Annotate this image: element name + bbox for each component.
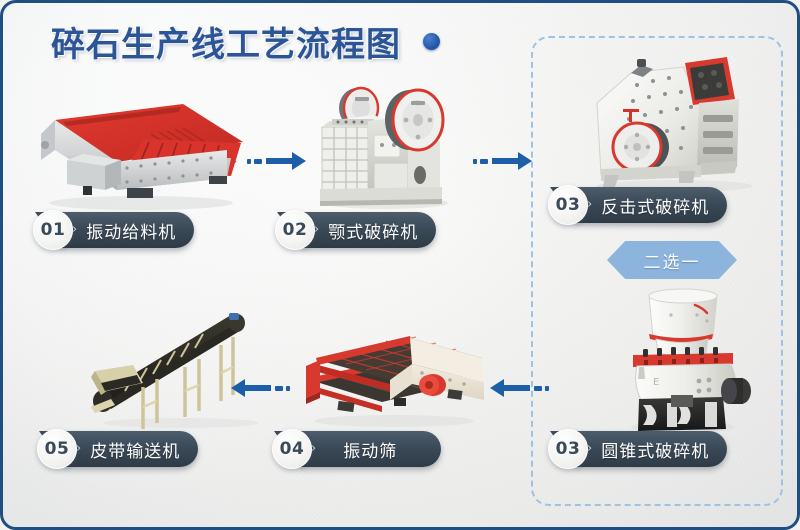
- step-label-text: 皮带输送机: [90, 437, 180, 462]
- step-number-badge: 04: [272, 429, 312, 469]
- arrow-shaft: [492, 158, 518, 164]
- machine-vibrating-feeder: [31, 98, 253, 217]
- arrow-head: [231, 379, 245, 397]
- step-label-text: 振动给料机: [86, 218, 176, 243]
- step-number-badge: 05: [37, 429, 77, 469]
- step-label-01[interactable]: 01 › 振动给料机: [33, 212, 194, 248]
- step-label-bubble: › 反击式破碎机: [575, 187, 727, 223]
- arrow-dash: [275, 386, 283, 391]
- step-label-03-impact[interactable]: 03 › 反击式破碎机: [548, 187, 727, 223]
- step-label-bubble: › 振动给料机: [60, 212, 194, 248]
- step-label-text: 反击式破碎机: [601, 193, 709, 218]
- jaw-crusher-icon: [308, 75, 463, 215]
- step-label-bubble: › 皮带输送机: [64, 431, 198, 467]
- step-number-badge: 03: [548, 185, 588, 225]
- arrow-head: [518, 152, 532, 170]
- step-label-04[interactable]: 04 › 振动筛: [272, 431, 441, 467]
- vibrating-screen-icon: [298, 318, 488, 430]
- arrow-screen-to-conveyor: [231, 379, 290, 397]
- choose-one-badge: 二选一: [607, 241, 737, 279]
- cone-crusher-icon: E: [611, 281, 761, 436]
- arrow-dot: [473, 159, 477, 164]
- step-number-badge: 03: [548, 429, 588, 469]
- machine-cone-crusher: E: [611, 281, 761, 440]
- machine-belt-conveyor: [81, 303, 276, 437]
- step-label-text: 颚式破碎机: [328, 218, 418, 243]
- machine-impact-crusher: [575, 51, 775, 200]
- impact-crusher-icon: [575, 51, 775, 196]
- arrow-feeder-to-jaw: [247, 152, 306, 170]
- belt-conveyor-icon: [81, 303, 276, 433]
- machine-jaw-crusher: [308, 75, 463, 219]
- step-number-badge: 01: [33, 210, 73, 250]
- arrow-head: [292, 152, 306, 170]
- step-label-bubble: › 颚式破碎机: [302, 212, 436, 248]
- step-label-03-cone[interactable]: 03 › 圆锥式破碎机: [548, 431, 727, 467]
- arrow-jaw-to-impact: [473, 152, 532, 170]
- step-label-bubble: › 圆锥式破碎机: [575, 431, 727, 467]
- step-number-badge: 02: [275, 210, 315, 250]
- arrow-dash: [254, 159, 262, 164]
- svg-text:E: E: [653, 377, 659, 388]
- arrow-dash: [480, 159, 488, 164]
- arrow-shaft: [266, 158, 292, 164]
- step-label-05[interactable]: 05 › 皮带输送机: [37, 431, 198, 467]
- step-label-bubble: › 振动筛: [299, 431, 441, 467]
- step-label-02[interactable]: 02 › 颚式破碎机: [275, 212, 436, 248]
- arrow-dash: [534, 386, 542, 391]
- arrow-crusher-to-screen: [490, 379, 549, 397]
- arrow-shaft: [245, 385, 271, 391]
- page-title: 碎石生产线工艺流程图: [51, 17, 401, 66]
- page-title-row: 碎石生产线工艺流程图: [51, 17, 440, 66]
- vibrating-feeder-icon: [31, 98, 253, 213]
- arrow-dot: [247, 159, 251, 164]
- step-label-text: 振动筛: [343, 437, 397, 462]
- flowchart-page: 碎石生产线工艺流程图: [0, 0, 800, 530]
- arrow-dot: [545, 386, 549, 391]
- arrow-head: [490, 379, 504, 397]
- machine-vibrating-screen: [298, 318, 488, 434]
- arrow-dot: [286, 386, 290, 391]
- arrow-shaft: [504, 385, 530, 391]
- blue-dot-icon: [423, 33, 440, 50]
- step-label-text: 圆锥式破碎机: [601, 437, 709, 462]
